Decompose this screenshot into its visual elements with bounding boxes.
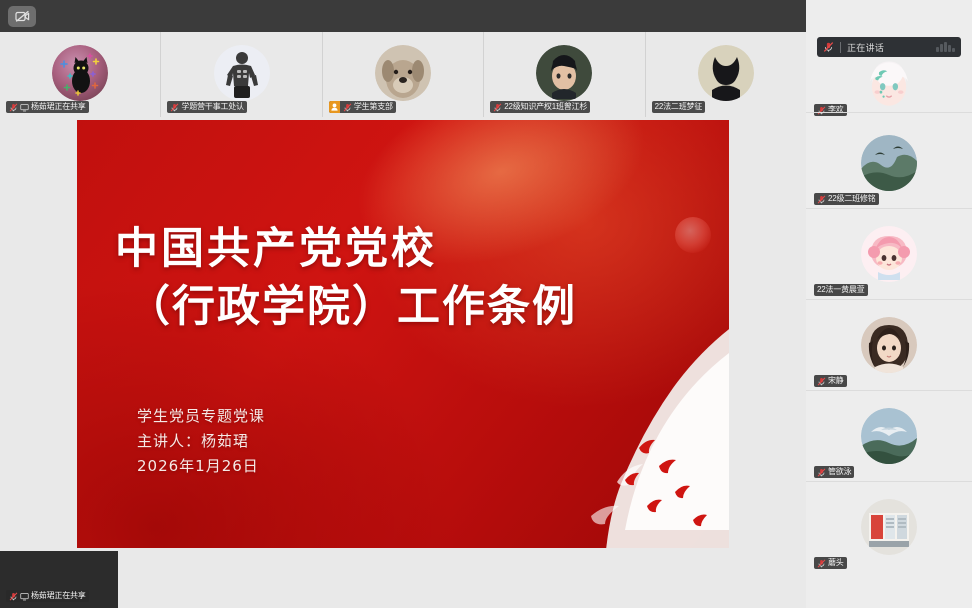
rail-name-chip: 李欢 <box>814 104 847 116</box>
portrait-girl-avatar <box>861 317 917 373</box>
slide-subtitle: 学生党员专题党课 主讲人：杨茹珺 2026年1月26日 <box>137 404 265 480</box>
slide-title: 中国共产党党校 （行政学院）工作条例 <box>77 220 729 336</box>
mic-muted-icon <box>170 103 179 112</box>
participant-name-chip: 22法二班梦征 <box>652 101 706 113</box>
rail-tile[interactable]: 蘑头 <box>806 482 972 572</box>
presentation-slide: 中国共产党党校 （行政学院）工作条例 学生党员专题党课 主讲人：杨茹珺 2026… <box>77 120 729 548</box>
muscle-figure-avatar <box>214 45 270 101</box>
participant-name: 学题营干事工处认 <box>181 101 243 113</box>
slide-subtitle-line2: 主讲人：杨茹珺 <box>137 429 265 454</box>
participant-name: 22级二班修铭 <box>828 193 876 205</box>
rail-name-chip: 22级二班修铭 <box>814 193 879 205</box>
presenter-name: 杨茹珺正在共享 <box>31 590 86 602</box>
banner-divider <box>840 42 841 53</box>
participant-name: 22法一黄晨萱 <box>817 284 865 296</box>
shared-screen-viewport[interactable]: 中国共产党党校 （行政学院）工作条例 学生党员专题党课 主讲人：杨茹珺 2026… <box>77 120 729 548</box>
mic-muted-icon <box>817 377 826 386</box>
screen-share-icon <box>20 103 29 112</box>
presenter-name-chip: 杨茹珺正在共享 <box>6 590 89 602</box>
filmstrip-tile[interactable]: 学题营干事工处认 <box>161 32 322 117</box>
participant-filmstrip[interactable]: 杨茹珺正在共享 <box>0 32 806 117</box>
silhouette-avatar <box>698 45 754 101</box>
screen-share-icon <box>20 592 29 601</box>
presenter-bar-filler <box>118 551 806 608</box>
participant-name-chip: 学生第支部 <box>329 101 396 113</box>
participant-name: 蘑头 <box>828 557 844 569</box>
mic-muted-icon <box>817 559 826 568</box>
mic-muted-icon <box>343 103 352 112</box>
presenter-tile[interactable]: 杨茹珺正在共享 <box>0 551 118 608</box>
speaking-banner: 正在讲话 <box>817 37 961 57</box>
rail-tile[interactable]: 22级二班修铭 <box>806 118 972 208</box>
scenery-bird-avatar <box>861 135 917 191</box>
speaking-label: 正在讲话 <box>847 41 930 54</box>
mic-muted-icon <box>817 195 826 204</box>
participant-name: 22级知识产权1班曾江杉 <box>504 101 587 113</box>
slide-title-line2: （行政学院）工作条例 <box>77 278 729 336</box>
participant-name-chip: 杨茹珺正在共享 <box>6 101 89 113</box>
shared-screen-stage: 中国共产党党校 （行政学院）工作条例 学生党员专题党课 主讲人：杨茹珺 2026… <box>0 117 806 551</box>
filmstrip-tile[interactable]: 22级知识产权1班曾江杉 <box>484 32 645 117</box>
dog-photo-avatar <box>375 45 431 101</box>
rail-name-chip: 管欲泳 <box>814 466 854 478</box>
chibi-girl-avatar <box>861 226 917 282</box>
cat-sparkle-avatar <box>52 45 108 101</box>
slide-title-line1: 中国共产党党校 <box>77 220 729 278</box>
participant-name: 宋静 <box>828 375 844 387</box>
rail-name-chip: 蘑头 <box>814 557 847 569</box>
participant-name: 李欢 <box>828 104 844 116</box>
participant-name: 学生第支部 <box>354 101 393 113</box>
bird-flight-avatar <box>861 408 917 464</box>
filmstrip-tile[interactable]: 22法二班梦征 <box>646 32 806 117</box>
participant-name: 杨茹珺正在共享 <box>31 101 86 113</box>
rail-tile[interactable]: 管欲泳 <box>806 391 972 481</box>
mic-muted-icon <box>823 41 834 53</box>
rail-name-chip: 宋静 <box>814 375 847 387</box>
host-badge-icon <box>329 101 340 113</box>
anime-boy-avatar <box>536 45 592 101</box>
rail-name-chip: 22法一黄晨萱 <box>814 284 868 296</box>
participant-name-chip: 学题营干事工处认 <box>167 101 246 113</box>
stop-video-button[interactable] <box>8 6 36 27</box>
participant-name: 管欲泳 <box>828 466 851 478</box>
slide-subtitle-line3: 2026年1月26日 <box>137 454 265 479</box>
participant-rail[interactable]: 正在讲话 <box>806 0 972 608</box>
anime-girl-avatar <box>861 56 917 112</box>
participant-name: 22法二班梦征 <box>655 101 703 113</box>
poster-photo-avatar <box>861 499 917 555</box>
audio-wave-icon <box>936 42 955 52</box>
presenter-bar: 杨茹珺正在共享 <box>0 551 806 608</box>
rail-tile[interactable]: 宋静 <box>806 300 972 390</box>
filmstrip-tile[interactable]: 杨茹珺正在共享 <box>0 32 161 117</box>
rail-tile[interactable]: 李欢 <box>806 58 972 110</box>
rail-tile[interactable]: 22法一黄晨萱 <box>806 209 972 299</box>
camera-off-icon <box>15 10 30 23</box>
mic-muted-icon <box>9 592 18 601</box>
participant-name-chip: 22级知识产权1班曾江杉 <box>490 101 590 113</box>
top-toolbar <box>0 0 806 32</box>
mic-muted-icon <box>493 103 502 112</box>
mic-muted-icon <box>9 103 18 112</box>
mic-muted-icon <box>817 106 826 115</box>
slide-subtitle-line1: 学生党员专题党课 <box>137 404 265 429</box>
mic-muted-icon <box>817 468 826 477</box>
filmstrip-tile[interactable]: 学生第支部 <box>323 32 484 117</box>
